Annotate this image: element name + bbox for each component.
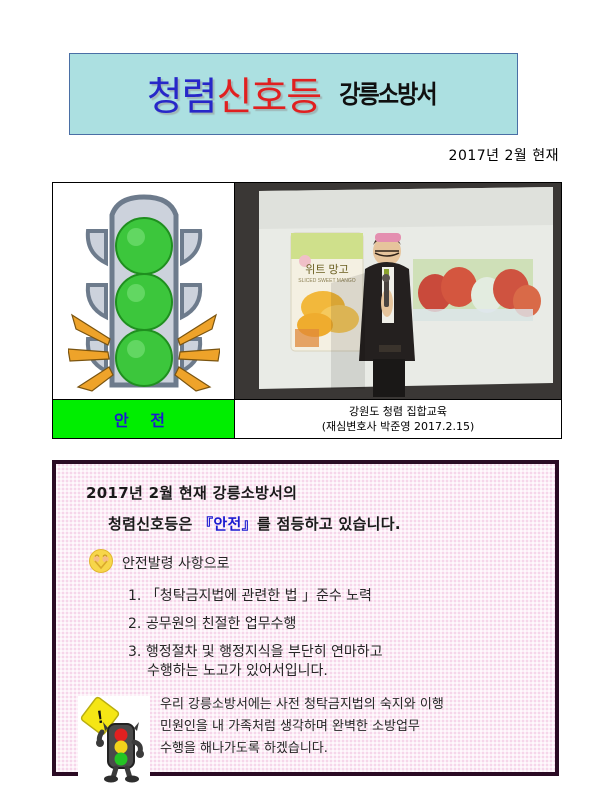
closing-paragraph: 우리 강릉소방서에는 사전 청탁금지법의 숙지와 이행 민원인을 내 가족처럼 … xyxy=(160,690,444,784)
message-heading-line1: 2017년 2월 현재 강릉소방서의 xyxy=(86,482,539,503)
closing-paragraph-line3: 수행을 해나가도록 하겠습니다. xyxy=(160,738,444,760)
title-part-cheongryeom: 청렴 xyxy=(147,75,217,120)
document-title: 청렴신호등 xyxy=(147,66,321,122)
list-item: 1. 「청탁금지법에 관련한 법 」준수 노력 xyxy=(128,587,539,606)
closing-paragraph-line1: 우리 강릉소방서에는 사전 청탁금지법의 숙지와 이행 xyxy=(160,694,444,716)
heading-before-text: 청렴신호등은 xyxy=(108,515,198,533)
photo-caption-line1: 강원도 청렴 집합교육 xyxy=(235,404,561,419)
table-row-images: 위트 망고 SLICED SWEET MANGO xyxy=(53,183,562,400)
heading-after-text: 를 점등하고 있습니다. xyxy=(257,515,401,533)
list-item-text: 공무원의 친절한 업무수행 xyxy=(146,616,297,632)
lecture-photo-cell: 위트 망고 SLICED SWEET MANGO xyxy=(235,183,562,400)
traffic-light-mascot-with-warning-sign: ! xyxy=(78,696,150,784)
photo-table: 위트 망고 SLICED SWEET MANGO xyxy=(52,182,562,439)
list-item-number: 1. xyxy=(128,588,141,604)
traffic-light-green-illustration xyxy=(53,189,234,394)
status-badge: 안 전 xyxy=(114,411,173,430)
message-box: 2017년 2월 현재 강릉소방서의 청렴신호등은 『안전』를 점등하고 있습니… xyxy=(52,460,559,776)
header-banner: 청렴신호등 강릉소방서 xyxy=(69,53,518,135)
signal-status-cell: 안 전 xyxy=(53,400,235,439)
organization-name: 강릉소방서 xyxy=(339,75,436,113)
smiley-face-icon xyxy=(88,548,114,578)
closing-paragraph-line2: 민원인을 내 가족처럼 생각하며 완벽한 소방업무 xyxy=(160,716,444,738)
message-heading-line2: 청렴신호등은 『안전』를 점등하고 있습니다. xyxy=(108,513,539,534)
heading-highlight-safety: 『안전』 xyxy=(198,515,257,533)
table-row-labels: 안 전 강원도 청렴 집합교육 (재심변호사 박준영 2017.2.15) xyxy=(53,400,562,439)
list-item-number: 3. xyxy=(128,644,141,660)
svg-text:위트 망고: 위트 망고 xyxy=(305,263,349,276)
list-item-continuation: 수행하는 노고가 있어서입니다. xyxy=(147,662,539,681)
photo-caption-line2: (재심변호사 박준영 2017.2.15) xyxy=(235,419,561,434)
list-item-number: 2. xyxy=(128,616,141,632)
traffic-light-cell xyxy=(53,183,235,400)
title-part-signal: 신호등 xyxy=(217,75,322,120)
lead-row: 안전발령 사항으로 xyxy=(88,548,539,578)
date-line: 2017년 2월 현재 xyxy=(449,145,559,165)
list-item-text: 「청탁금지법에 관련한 법 」준수 노력 xyxy=(146,588,372,604)
list-item-text: 행정절차 및 행정지식을 부단히 연마하고 xyxy=(146,644,383,660)
closing-row: ! xyxy=(78,690,539,784)
safety-measures-list: 1. 「청탁금지법에 관련한 법 」준수 노력 2. 공무원의 친절한 업무수행… xyxy=(128,587,539,681)
photo-caption-cell: 강원도 청렴 집합교육 (재심변호사 박준영 2017.2.15) xyxy=(235,400,562,439)
lecture-photo: 위트 망고 SLICED SWEET MANGO xyxy=(235,183,561,399)
list-item: 2. 공무원의 친절한 업무수행 xyxy=(128,615,539,634)
lead-text: 안전발령 사항으로 xyxy=(122,553,230,573)
list-item: 3. 행정절차 및 행정지식을 부단히 연마하고 수행하는 노고가 있어서입니다… xyxy=(128,643,539,681)
